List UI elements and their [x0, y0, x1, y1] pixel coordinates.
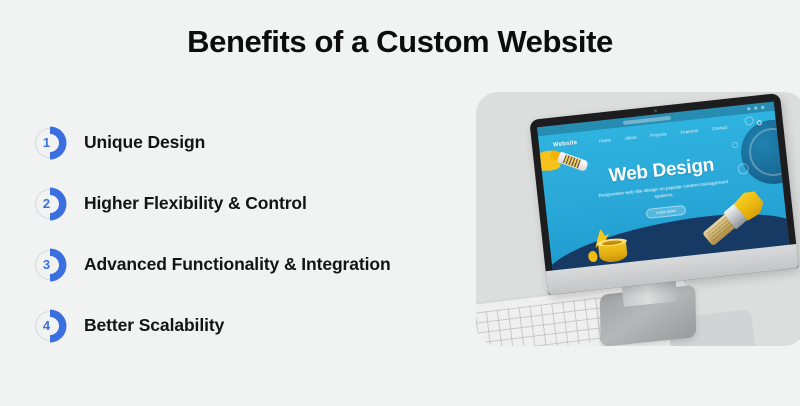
browser-dot-icon — [761, 106, 764, 109]
list-item: 1 Unique Design — [30, 112, 470, 173]
mockup-nav-link-contact: Contact — [712, 124, 728, 131]
badge-number: 1 — [30, 123, 63, 163]
paint-bucket-icon — [593, 232, 630, 264]
infographic-page: Benefits of a Custom Website 1 Unique De… — [0, 0, 800, 406]
webcam-icon — [653, 109, 656, 112]
paint-bucket-blob — [588, 251, 598, 263]
badge-number: 2 — [30, 184, 63, 224]
browser-dot-icon — [747, 107, 750, 110]
benefits-list: 1 Unique Design 2 Higher Flexibility & C… — [30, 112, 470, 356]
monitor-bezel: Website Home About Projects Features Con… — [529, 93, 799, 295]
page-title: Benefits of a Custom Website — [0, 24, 800, 60]
monitor-screen: Website Home About Projects Features Con… — [537, 102, 789, 271]
benefit-label: Better Scalability — [84, 315, 224, 336]
number-badge: 2 — [30, 184, 70, 224]
benefit-label: Unique Design — [84, 132, 205, 153]
number-badge: 1 — [30, 123, 70, 163]
list-item: 3 Advanced Functionality & Integration — [30, 234, 470, 295]
browser-url-bar — [622, 115, 670, 124]
search-icon — [757, 120, 763, 126]
number-badge: 4 — [30, 306, 70, 346]
badge-number: 3 — [30, 245, 63, 285]
badge-number: 4 — [30, 306, 63, 346]
bubble-decoration — [732, 142, 739, 149]
illustration-panel: Website Home About Projects Features Con… — [476, 92, 800, 346]
mockup-nav-link-about: About — [625, 134, 637, 140]
list-item: 4 Better Scalability — [30, 295, 470, 356]
mockup-cta-button: Learn more — [646, 205, 687, 219]
browser-dot-icon — [754, 106, 757, 109]
monitor-illustration: Website Home About Projects Features Con… — [529, 93, 799, 295]
mockup-nav-link-features: Features — [680, 127, 698, 134]
mockup-nav-link-projects: Projects — [650, 131, 667, 138]
list-item: 2 Higher Flexibility & Control — [30, 173, 470, 234]
paint-tube-label — [563, 154, 581, 168]
benefit-label: Higher Flexibility & Control — [84, 193, 307, 214]
number-badge: 3 — [30, 245, 70, 285]
benefit-label: Advanced Functionality & Integration — [84, 254, 391, 275]
mockup-nav-link-home: Home — [599, 137, 611, 143]
